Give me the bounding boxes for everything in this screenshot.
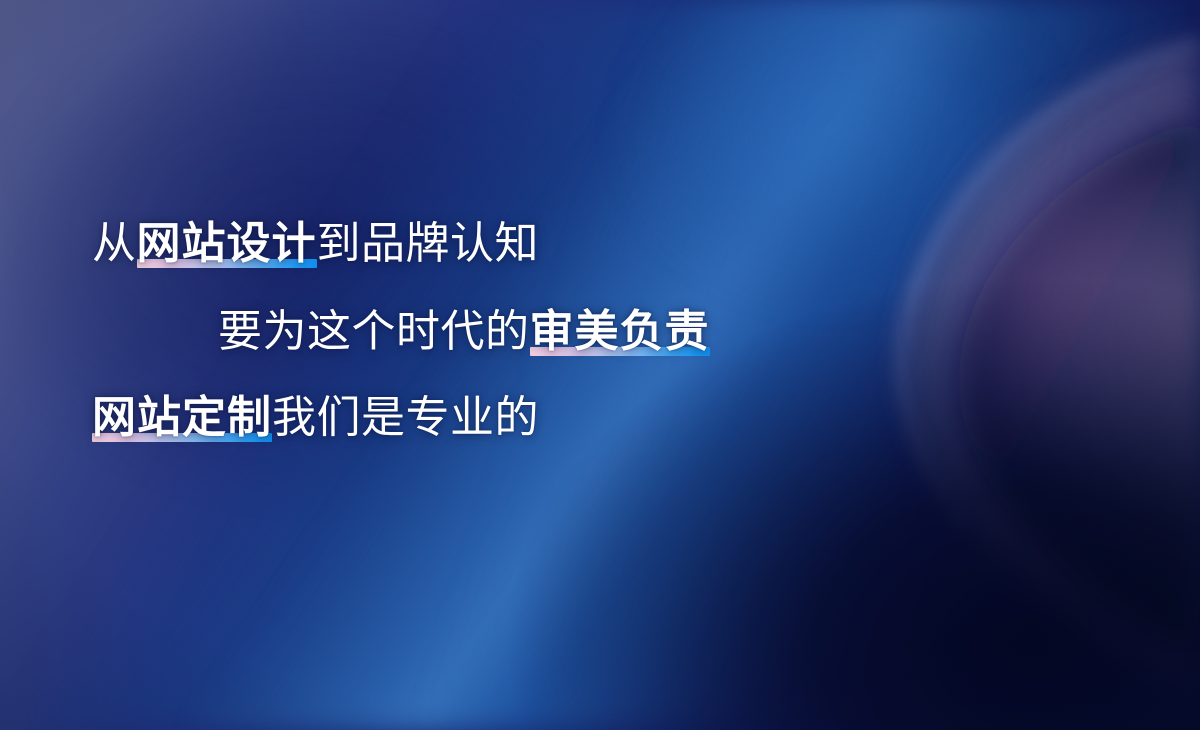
headline-line-1-suffix: 到品牌认知 — [317, 219, 540, 268]
swirl-svg — [0, 0, 1200, 730]
headline-line-1-emphasis: 网站设计 — [137, 222, 317, 266]
background-swirl-shape — [0, 0, 1200, 730]
hero-banner: 从网站设计到品牌认知 要为这个时代的审美负责 网站定制我们是专业的 — [0, 0, 1200, 730]
headline-line-3-emphasis: 网站定制 — [92, 396, 272, 440]
headline-line-2: 要为这个时代的审美负责 — [218, 310, 710, 354]
headline-line-3-suffix: 我们是专业的 — [272, 393, 539, 442]
headline-line-1-prefix: 从 — [92, 219, 137, 268]
headline-line-3: 网站定制我们是专业的 — [92, 396, 539, 440]
headline-line-2-prefix: 要为这个时代的 — [218, 307, 530, 356]
headline-line-2-emphasis: 审美负责 — [530, 310, 710, 354]
headline-line-1: 从网站设计到品牌认知 — [92, 222, 539, 266]
